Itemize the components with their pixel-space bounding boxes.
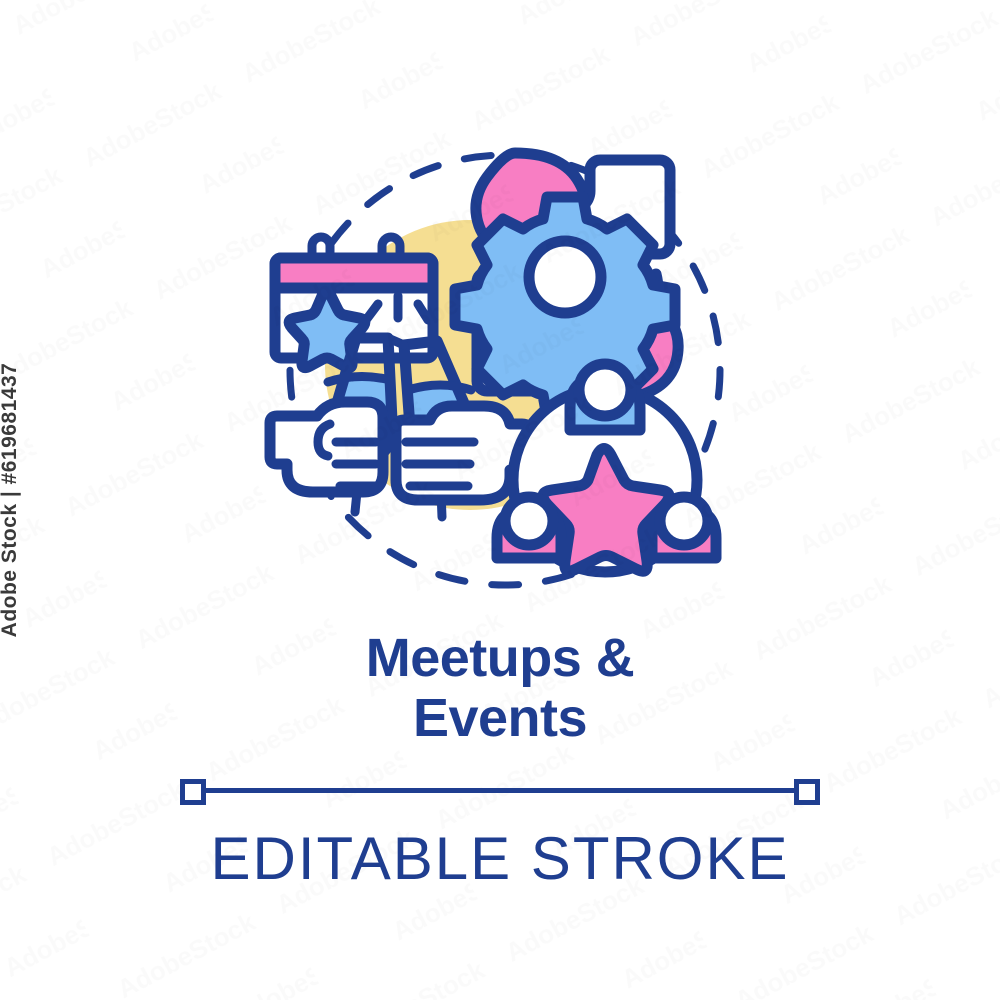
adobe-stock-watermark: Adobe Stock | #619681437	[0, 363, 22, 638]
calendar-star	[289, 292, 365, 368]
person-left	[497, 497, 561, 558]
stroke-handle-left-icon[interactable]	[180, 779, 206, 805]
stroke-bar	[180, 770, 820, 810]
title-line-1: Meetups &	[0, 628, 1000, 688]
concept-title: Meetups & Events	[0, 628, 1000, 749]
illustration-canvas: .ol { fill:none; stroke:#1F3E90; stroke-…	[0, 0, 1000, 1000]
glass-right	[404, 341, 473, 467]
people-network	[497, 364, 716, 572]
person-top	[570, 364, 640, 430]
yellow-backdrop-circle	[325, 220, 615, 510]
person-right	[652, 497, 716, 558]
glass-left	[332, 338, 393, 462]
network-ring	[513, 388, 697, 572]
hand-right	[396, 406, 530, 500]
gear-icon	[455, 197, 675, 417]
hand-left	[270, 402, 383, 492]
champagne-glasses	[320, 338, 490, 517]
calendar-icon	[275, 237, 433, 368]
speech-bubble-white-top	[561, 160, 670, 254]
title-line-2: Events	[0, 688, 1000, 748]
editable-stroke-label: EDITABLE STROKE	[0, 824, 1000, 893]
dashed-ring	[290, 155, 720, 585]
stroke-line-segment	[196, 788, 804, 793]
speech-bubble-pink-top	[476, 153, 586, 279]
clink-sparkles	[366, 296, 428, 320]
gear-hub	[529, 241, 601, 313]
speech-bubble-white-bottom	[477, 272, 586, 391]
editable-stroke-block: EDITABLE STROKE	[0, 770, 1000, 893]
stroke-handle-right-icon[interactable]	[794, 779, 820, 805]
speech-bubble-pink-bottom	[563, 274, 678, 399]
network-star	[543, 449, 669, 572]
